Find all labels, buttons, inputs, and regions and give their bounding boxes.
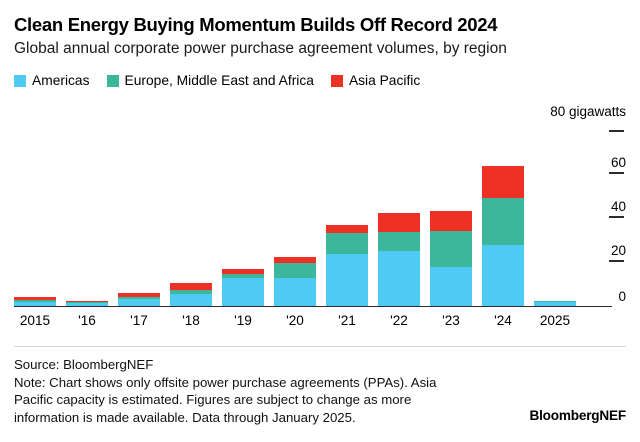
footer-divider — [14, 346, 626, 347]
bar-column[interactable] — [14, 297, 56, 306]
y-tick-mark — [609, 172, 624, 174]
bar-segment[interactable] — [378, 213, 420, 232]
y-tick-60: 60 — [609, 156, 626, 174]
y-tick-label: 60 — [611, 156, 626, 170]
x-axis-label: '23 — [430, 312, 472, 330]
y-tick-0: 0 — [618, 290, 626, 304]
note-line-3: information is made available. Data thro… — [14, 409, 484, 427]
chart-figure: Clean Energy Buying Momentum Builds Off … — [0, 0, 640, 442]
bar-segment[interactable] — [482, 166, 524, 198]
bar-segment[interactable] — [170, 294, 212, 306]
x-axis-label: '17 — [118, 312, 160, 330]
bar-column[interactable] — [430, 211, 472, 306]
legend-item-label: Europe, Middle East and Africa — [125, 74, 314, 88]
legend-item-1[interactable]: Europe, Middle East and Africa — [107, 74, 314, 88]
x-axis-label: '16 — [66, 312, 108, 330]
bar-segment[interactable] — [326, 225, 368, 233]
y-tick-mark — [609, 216, 624, 218]
x-axis-label: '22 — [378, 312, 420, 330]
x-axis-baseline — [14, 306, 612, 307]
brand-logo: BloombergNEF — [529, 408, 626, 423]
legend-swatch-icon — [14, 75, 26, 87]
y-tick-label: 40 — [611, 200, 626, 214]
source-line: Source: BloombergNEF — [14, 356, 484, 374]
y-tick-80 — [609, 128, 626, 132]
bar-column[interactable] — [378, 213, 420, 306]
y-tick-20: 20 — [609, 244, 626, 262]
legend-swatch-icon — [331, 75, 343, 87]
y-tick-mark — [609, 260, 624, 262]
bar-segment[interactable] — [430, 267, 472, 306]
bar-segment[interactable] — [482, 245, 524, 306]
x-axis-label: '24 — [482, 312, 524, 330]
x-axis-label: 2025 — [534, 312, 576, 330]
legend-item-label: Asia Pacific — [349, 74, 420, 88]
x-axis-label: '21 — [326, 312, 368, 330]
bar-segment[interactable] — [378, 251, 420, 306]
bars-container — [14, 96, 590, 306]
y-tick-label: 0 — [618, 290, 626, 304]
x-axis-labels: 2015'16'17'18'19'20'21'22'23'242025 — [14, 312, 590, 334]
bar-segment[interactable] — [118, 299, 160, 306]
note-line-1: Note: Chart shows only offsite power pur… — [14, 374, 484, 392]
bar-column[interactable] — [326, 225, 368, 306]
legend-item-label: Americas — [32, 74, 90, 88]
bar-segment[interactable] — [274, 263, 316, 278]
note-line-2: Pacific capacity is estimated. Figures a… — [14, 391, 484, 409]
bar-column[interactable] — [274, 257, 316, 306]
bar-segment[interactable] — [430, 231, 472, 267]
x-axis-label: '20 — [274, 312, 316, 330]
bar-segment[interactable] — [326, 254, 368, 306]
y-tick-label: 20 — [611, 244, 626, 258]
chart-header: Clean Energy Buying Momentum Builds Off … — [14, 14, 626, 59]
bar-column[interactable] — [118, 293, 160, 306]
chart-subtitle: Global annual corporate power purchase a… — [14, 39, 626, 59]
bar-segment[interactable] — [430, 211, 472, 231]
bar-segment[interactable] — [170, 283, 212, 290]
y-axis: 6040200 — [592, 96, 640, 312]
chart-footnotes: Source: BloombergNEF Note: Chart shows o… — [14, 356, 484, 426]
bar-segment[interactable] — [326, 233, 368, 254]
bar-segment[interactable] — [274, 278, 316, 306]
y-tick-40: 40 — [609, 200, 626, 218]
legend-swatch-icon — [107, 75, 119, 87]
bar-column[interactable] — [482, 166, 524, 306]
plot-area: 80 gigawatts 6040200 — [0, 96, 640, 312]
x-axis-label: '18 — [170, 312, 212, 330]
legend-item-0[interactable]: Americas — [14, 74, 90, 88]
chart-legend: AmericasEurope, Middle East and AfricaAs… — [14, 74, 420, 88]
page-title: Clean Energy Buying Momentum Builds Off … — [14, 14, 626, 36]
bar-column[interactable] — [222, 269, 264, 306]
x-axis-label: '19 — [222, 312, 264, 330]
bar-segment[interactable] — [222, 278, 264, 306]
bar-segment[interactable] — [378, 232, 420, 251]
legend-item-2[interactable]: Asia Pacific — [331, 74, 420, 88]
bar-column[interactable] — [170, 283, 212, 306]
x-axis-label: 2015 — [14, 312, 56, 330]
y-tick-mark — [609, 130, 624, 132]
bar-segment[interactable] — [482, 198, 524, 245]
